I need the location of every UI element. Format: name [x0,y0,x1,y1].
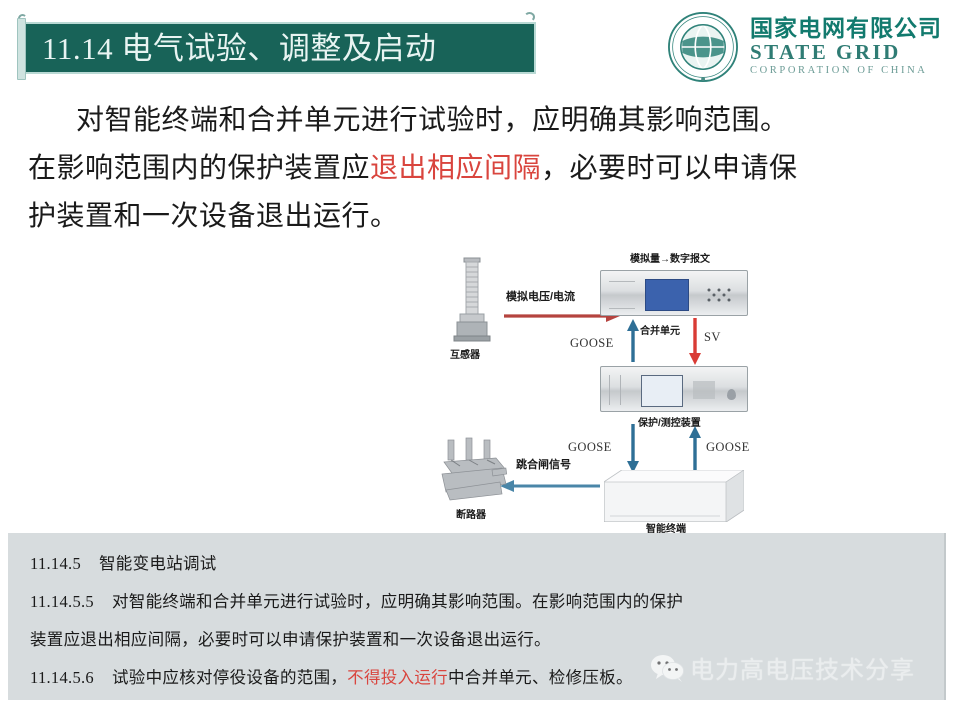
note-line-1-number: 11.14.5 [30,554,81,573]
ribbon-left-accent-bar [17,18,26,80]
note-line-1: 11.14.5智能变电站调试 [30,545,944,583]
note-line-1-text: 智能变电站调试 [99,555,217,573]
diagram-label-merging-unit: 合并单元 [640,322,680,337]
note-line-4-text: 试验中应核对停役设备的范围， [112,669,347,687]
logo-chinese-name: 国家电网有限公司 [750,17,942,40]
standard-clause-note-box: 11.14.5智能变电站调试 11.14.5.5对智能终端和合并单元进行试验时，… [8,533,946,700]
body-line-3: 护装置和一次设备退出运行。 [28,192,932,240]
diagram-label-ct: 互感器 [450,346,480,361]
diagram-label-goose-3: GOOSE [706,440,750,455]
state-grid-logo: ● 国家电网有限公司 STATE GRID CORPORATION OF CHI… [666,10,942,84]
body-line-1-text: 对智能终端和合并单元进行试验时，应明确其影响范围。 [76,104,789,135]
svg-text:●: ● [701,76,706,82]
slide-title-banner: 11.14 电气试验、调整及启动 [24,22,536,74]
substation-signal-flow-diagram: 互感器 模拟电压/电流 模拟量→数字报文 合并单元 GOOSE [440,248,750,528]
instrument-transformer-icon [452,256,492,344]
goose-up-arrow-2-icon [688,424,702,474]
ribbon-corner-hook-right-icon [524,12,535,22]
note-line-4: 11.14.5.6试验中应核对停役设备的范围，不得投入运行中合并单元、检修压板。 [30,659,944,697]
note-line-4-highlight: 不得投入运行 [347,669,448,687]
state-grid-globe-logo-icon: ● [666,10,740,84]
logo-english-subtitle: CORPORATION OF CHINA [750,66,942,77]
diagram-label-analog-to-digital: 模拟量→数字报文 [630,250,710,265]
trip-close-signal-arrow-icon [498,478,602,494]
note-line-3-text: 装置应退出相应间隔，必要时可以申请保护装置和一次设备退出运行。 [30,631,551,649]
goose-down-arrow-icon [626,424,640,474]
note-line-4-text-after: 中合并单元、检修压板。 [448,669,633,687]
smart-terminal-device [604,470,744,522]
circuit-breaker-icon [440,434,510,504]
diagram-label-breaker: 断路器 [456,506,486,521]
body-line-3-text: 护装置和一次设备退出运行。 [28,200,399,231]
diagram-label-trip-close-signal: 跳合闸信号 [516,456,571,472]
body-line-2: 在影响范围内的保护装置应退出相应间隔，必要时可以申请保 [28,144,932,192]
slide-body-text: 对智能终端和合并单元进行试验时，应明确其影响范围。 在影响范围内的保护装置应退出… [28,96,932,240]
body-line-2-highlight: 退出相应间隔 [370,152,541,183]
logo-english-name: STATE GRID [750,42,942,63]
note-line-4-number: 11.14.5.6 [30,668,94,687]
protection-control-device [600,366,748,412]
body-line-1: 对智能终端和合并单元进行试验时，应明确其影响范围。 [28,96,932,144]
goose-up-arrow-icon [626,318,640,362]
body-line-2-part2: ，必要时可以申请保 [541,152,798,183]
diagram-label-goose-1: GOOSE [570,336,614,351]
note-line-2-number: 11.14.5.5 [30,592,94,611]
note-line-2: 11.14.5.5对智能终端和合并单元进行试验时，应明确其影响范围。在影响范围内… [30,583,944,621]
diagram-label-analog-signal: 模拟电压/电流 [506,288,575,304]
page-title: 11.14 电气试验、调整及启动 [26,33,436,64]
note-line-3: 装置应退出相应间隔，必要时可以申请保护装置和一次设备退出运行。 [30,621,944,659]
body-line-2-part1: 在影响范围内的保护装置应 [28,152,370,183]
sv-down-arrow-icon [688,318,702,366]
diagram-label-goose-2: GOOSE [568,440,612,455]
merging-unit-device [600,270,748,316]
note-line-2-text: 对智能终端和合并单元进行试验时，应明确其影响范围。在影响范围内的保护 [112,593,683,611]
diagram-label-sv: SV [704,330,721,345]
